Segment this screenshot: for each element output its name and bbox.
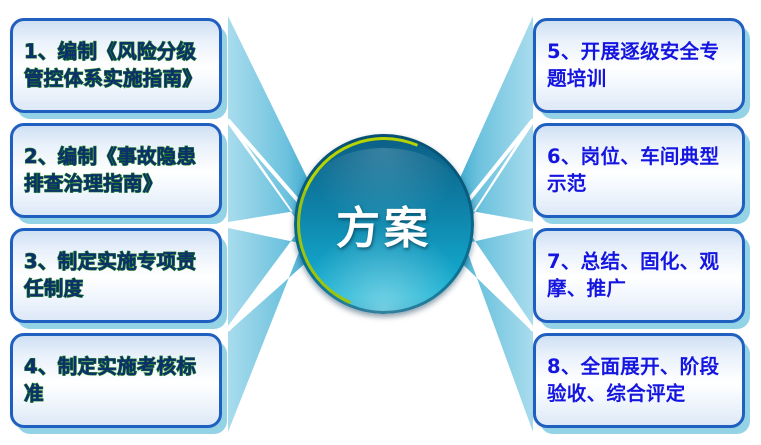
node-3[interactable]: 3、制定实施专项责任制度 <box>10 228 222 323</box>
node-6[interactable]: 6、岗位、车间典型示范 <box>533 123 745 218</box>
node-7-label: 7、总结、固化、观摩、推广 <box>547 249 731 302</box>
node-5-label: 5、开展逐级安全专题培训 <box>547 39 731 92</box>
node-5[interactable]: 5、开展逐级安全专题培训 <box>533 18 745 113</box>
node-3-label: 3、制定实施专项责任制度 <box>24 249 208 302</box>
diagram-canvas: 方案 1、编制《风险分级管控体系实施指南》 2、编制《事故隐患排查治理指南》 3… <box>0 0 761 445</box>
center-hub-label: 方案 <box>336 192 432 256</box>
node-8-label: 8、全面展开、阶段验收、综合评定 <box>547 354 731 407</box>
node-1-label: 1、编制《风险分级管控体系实施指南》 <box>24 39 208 92</box>
node-2[interactable]: 2、编制《事故隐患排查治理指南》 <box>10 123 222 218</box>
node-2-label: 2、编制《事故隐患排查治理指南》 <box>24 144 208 197</box>
node-4-label: 4、制定实施考核标准 <box>24 354 208 407</box>
node-6-label: 6、岗位、车间典型示范 <box>547 144 731 197</box>
node-4[interactable]: 4、制定实施考核标准 <box>10 333 222 428</box>
center-hub[interactable]: 方案 <box>294 134 474 314</box>
node-8[interactable]: 8、全面展开、阶段验收、综合评定 <box>533 333 745 428</box>
node-1[interactable]: 1、编制《风险分级管控体系实施指南》 <box>10 18 222 113</box>
node-7[interactable]: 7、总结、固化、观摩、推广 <box>533 228 745 323</box>
